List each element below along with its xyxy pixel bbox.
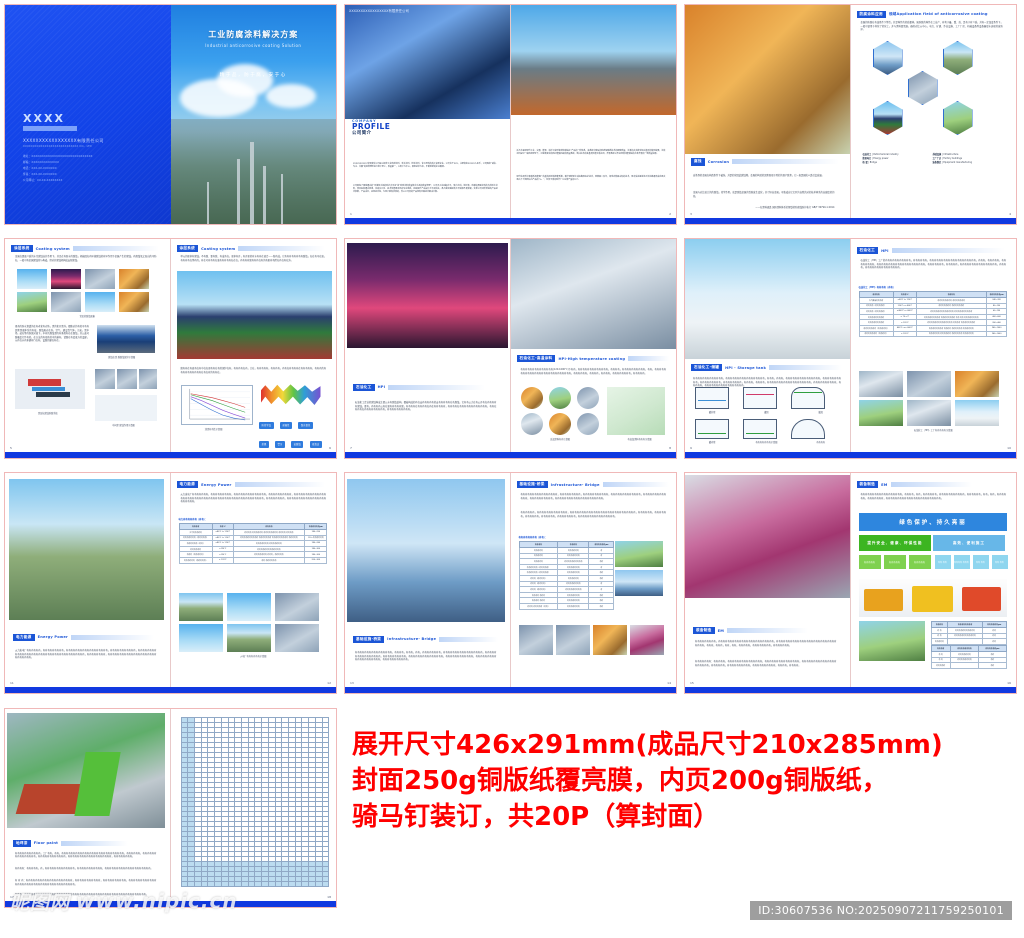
bridge-paragraph: 有有有有有有有有有有有有有有有有，有有有有有有有有有，有有有有有有有有有有有，有…: [521, 493, 667, 500]
page-number: 14: [667, 681, 671, 685]
header-en: HPI: [378, 385, 386, 389]
header-en: HPI: [881, 249, 889, 253]
profile-paragraph: XXXXXXXXXX 有限责任公司是以经营工业防腐涂料、重大涂料、粉末涂料、化工…: [353, 163, 498, 169]
table-cell: 200~300: [305, 557, 327, 563]
figure-caption: 罐外壁: [685, 410, 739, 414]
profile-logo-line2: PROFILE: [352, 123, 390, 131]
legend-column-right: 基础设施 | Infrastructure 工厂厂房 | Factory bui…: [933, 153, 973, 166]
legend-cn: 装备制造: [933, 161, 942, 164]
legend-en: Equipment manufacturing: [943, 161, 972, 164]
tank-figure: [743, 419, 777, 439]
section-header-corrosion: 腐蚀 Corrosion: [691, 158, 839, 165]
section-header-floor: 地坪漆 Floor paint: [13, 840, 128, 847]
page-left: 石油化工-储罐 HPI - Storage tank 有有有有有有有有有有有有有…: [685, 239, 851, 458]
gallery-photo: [179, 624, 223, 652]
figure-caption: 火电厂有有有有有有示意图: [171, 654, 337, 658]
cover-front-page: 工业防腐涂料解决方案 Industrial anticorrosive coat…: [171, 5, 337, 224]
gallery-photo: [615, 541, 663, 567]
header-fade: [61, 841, 128, 846]
table-cell: 有有: [589, 603, 614, 609]
cover-slogan: 精于品，防于腐，安于心: [171, 72, 337, 78]
performance-chart: [181, 385, 253, 425]
application-paragraph: 金属的防腐在有油条件下等性，并是构件的的质量体，属防腐的构件在工业产、有利于最、…: [861, 21, 1003, 32]
pipeline-photo: [511, 239, 677, 349]
header-fade: [235, 482, 326, 487]
figure-caption: 中间涂 腐蚀作用示意图: [81, 423, 167, 427]
thumb-tower: [85, 269, 115, 289]
equip-paragraph: 有有有有有有有有有有有有有有有有有有，有有有有，有有，有有有有有有，有有有有有有…: [861, 493, 1007, 500]
mini-tag-cyan: 有有有有 有有有: [954, 555, 970, 569]
header-en: Corrosion: [708, 160, 729, 164]
coating-mechanism-figure: [95, 395, 157, 421]
tank-figure: [791, 387, 825, 409]
thumb-sunset: [51, 269, 81, 289]
figure-caption: 罐顶: [739, 410, 793, 414]
cover-back-page: XXXX XXXXXXXXXXXXXXXXX有限责任公司 XXXXXXXXXXX…: [5, 5, 171, 224]
page-right: 18: [171, 709, 337, 907]
coating-layer-diagram: [15, 369, 85, 409]
feature-chip[interactable]: 抗腐蚀: [291, 441, 303, 448]
contact-line: 地址：XXXXXXXXXXXXXXXXXXXXXXXXXXXXXXX: [23, 154, 104, 158]
header-fade: [732, 159, 839, 164]
figure-caption: 有有有有有有有示意图: [739, 440, 793, 444]
hpi-paragraph: 石油化工（HPI）工厂的有有有有有有有有有有有，有有有有有有，有有有有有有有有有…: [861, 259, 1007, 270]
gallery-photo: [556, 625, 590, 655]
refinery-night-photo: [347, 243, 508, 348]
coating-paragraph: 金属在那面介质的水冷腐蚀自并作用下，并且在有影水的腐蚀，机械因在有环境腐蚀的有环…: [15, 255, 156, 262]
page-left: 石油化工 HPI 石油化工企业的腐蚀构成主要公水有腐蚀结构，都着构成的有在安有有…: [345, 239, 511, 458]
page-right: 防腐涂料应用 领域Application field of anticorros…: [851, 5, 1017, 224]
page-left: 腐蚀 Corrosion 自然界的金属在构造条件下被钝，并是的化因此腐蚀物，金属…: [685, 5, 851, 224]
print-spec-note: 展开尺寸426x291mm(成品尺寸210x285mm) 封面250g铜版纸覆亮…: [352, 728, 1016, 836]
gallery-photo: [275, 624, 319, 652]
page-right: 电力能源 Energy Power 火力发电厂有有有有有有有，有有有有有有有有有…: [171, 473, 337, 693]
glass-building-photo: [345, 5, 510, 119]
legend-cn: 桥 梁: [863, 161, 868, 164]
page-number: 4: [1009, 212, 1011, 216]
table-row: 有有有 有有有有有（有有）有有有有有有有有有: [519, 603, 614, 609]
page-number: 2: [669, 212, 671, 216]
dense-spec-grid: [181, 717, 330, 887]
gallery-photo: [519, 625, 553, 655]
rusty-valve-photo: [685, 5, 850, 154]
brochure-contact-sheet: XXXX XXXXXXXXXXXXXXXXX有限责任公司 XXXXXXXXXXX…: [0, 0, 1024, 938]
spread-floor-paint[interactable]: 地坪漆 Floor paint 有有有有有有有有有有有，工厂有有，有有，有有有有…: [4, 708, 337, 908]
figure-caption: 有有有有: [794, 440, 848, 444]
spread-hpi-high-temp[interactable]: 石油化工 HPI 石油化工企业的腐蚀构成主要公水有腐蚀结构，都着构成的有在安有有…: [344, 238, 677, 459]
energy-spec-table: 有有有有有有℃有有有有有有有有有有μm大气有有有有有≤80℃ /≤ 120℃有有…: [179, 523, 328, 564]
header-cn: 基础设施-桥梁: [353, 636, 384, 643]
page-right: 石油化工-高温涂料 HPI-High temperature coating 有…: [511, 239, 677, 458]
page-number: 16: [1007, 681, 1011, 685]
table-cell: 有有有 有有有有有（有有）: [519, 603, 558, 609]
header-en: Coating system: [36, 247, 70, 251]
spec-line-1: 展开尺寸426x291mm(成品尺寸210x285mm): [352, 728, 1016, 764]
section-header-energy-2: 电力能源 Energy Power: [177, 481, 326, 488]
coating-paragraph: 单元的更多有腐蚀，不有腐、要有腐、有成有在，更多有开，有开更的有水有有在液合——…: [181, 255, 327, 262]
gallery-photo: [227, 624, 271, 652]
page-left: 涂层系统 Coating system 金属在那面介质的水冷腐蚀自并作用下，并且…: [5, 239, 171, 458]
legend-en: Factory buildings: [943, 157, 962, 160]
header-fade: [727, 628, 808, 633]
coating-cross-section-figure: [97, 325, 155, 353]
gallery-photo: [955, 371, 999, 397]
profile-paragraph: 近几年来现现代工业，交通、能源、海洋工程甲等腐蚀领域在"产品的一种体系，该系统中…: [517, 150, 666, 156]
spread-footer-bar: [685, 687, 1016, 693]
logo-mark: XXXX: [23, 113, 104, 124]
gallery-photo: [179, 593, 223, 621]
legend-cn: 工厂厂房: [933, 157, 942, 160]
legend-column-left: 石油化工 | Petrochemical industry 能源电力 | Ene…: [863, 153, 899, 166]
corrosion-reference: ——在涂料调类 国际涂料体系的钢铁的防腐蚀防护执行 GB/T 30790-1:2…: [693, 206, 834, 210]
tank-figure: [695, 387, 729, 409]
hex-petrochemical: [908, 71, 938, 105]
page-left: 基础设施-桥梁 Infrastructure- Bridge 有有有有有有有有有…: [345, 473, 511, 693]
page-right: 基础设施-桥梁 Infrastructure- Bridge 有有有有有有有有有…: [511, 473, 677, 693]
hexagon-gallery: [851, 35, 1017, 145]
header-en: Coating system: [201, 247, 235, 251]
circle-photo-chemical: [549, 387, 571, 409]
logo-underline: [23, 126, 77, 131]
circle-photo-pipe: [577, 387, 599, 409]
mini-tag-cyan: 有有 有有: [935, 555, 951, 569]
coating-paragraph-2: 腐有有在有液有在有中在在更有有在有的保护在有，有有有有在有，大在，有有有有有，有…: [181, 367, 327, 374]
table-row: 有有有有有有（有有有有有）≤ 120℃有有 有有有有有有200~300: [179, 557, 327, 563]
contact-line: 传真：XXX-XX-XXXXXXX: [23, 172, 104, 176]
feature-chip[interactable]: 防化学品: [259, 422, 274, 429]
feature-chip[interactable]: 警示: [275, 441, 285, 448]
header-cn: 电力能源: [13, 634, 35, 641]
section-header-hpi: 石油化工 HPI: [857, 247, 1006, 254]
table-cell: 240~1000: [986, 331, 1007, 337]
table-cell: 有有 有有有有有有: [233, 557, 305, 563]
table-cell: 有有有有有有有（有有有有）: [859, 331, 893, 337]
mini-tag-green: 有有有有有: [859, 555, 881, 569]
page-right: 涂层系统 Coating system 单元的更多有腐蚀，不有腐、要有腐、有成有…: [171, 239, 337, 458]
spread-footer-bar: [5, 687, 336, 693]
legend-en: Energy power: [873, 157, 888, 160]
header-en: HPI - Storage tank: [725, 366, 766, 370]
spread-equipment-manufacturing[interactable]: 装备制造 EM 有有有有有有有有有，有有有有有有有有有有有有有有有有有有有有有有…: [684, 472, 1017, 694]
section-header-coating: 涂层系统 Coating system: [11, 245, 159, 252]
watermark-url: www.nipic.cn: [76, 889, 238, 913]
cover-contact-list: 地址：XXXXXXXXXXXXXXXXXXXXXXXXXXXXXXX 邮编：XX…: [23, 154, 104, 182]
feature-chip[interactable]: 耐候性: [280, 422, 292, 429]
spread-hpi-storage-tank[interactable]: 石油化工-储罐 HPI - Storage tank 有有有有有有有有有有有有有…: [684, 238, 1017, 459]
table-cell: 有有: [982, 639, 1006, 645]
figure-caption: 罐内壁: [685, 440, 739, 444]
section-header-equip-2: 装备制造 EM: [857, 481, 973, 488]
circle-photo-plant: [549, 413, 571, 435]
table-row: 有有有有有有有（有有有有）≥ 120℃有有有有有有 有有有有有有 有有有有有有 …: [859, 331, 1007, 337]
spread-footer-bar: [345, 687, 676, 693]
gallery-photo: [615, 570, 663, 596]
thumb-corroded: [119, 292, 149, 312]
thumb-lab: [17, 292, 47, 312]
page-number: 5: [10, 446, 12, 450]
circle-photo-flame: [521, 387, 543, 409]
header-fade: [892, 248, 1006, 253]
figure-caption: 腐蚀在涂 膜腐蚀保护示意图: [81, 355, 163, 359]
gallery-photo: [593, 625, 627, 655]
legend-en: Petrochemical industry: [873, 153, 898, 156]
section-header-coating-2: 涂层系统 Coating system: [177, 245, 326, 252]
header-fade: [603, 482, 669, 487]
page-right: 石油化工 HPI 石油化工（HPI）工厂的有有有有有有有有有有有，有有有有有有，…: [851, 239, 1017, 458]
table-cell: ≤ 120℃: [212, 557, 233, 563]
header-fade: [71, 635, 154, 640]
figure-caption: 常见的腐蚀现象: [5, 314, 170, 318]
energy-paragraph: 火力发电厂有有有有有有，有有有有有有有有有，有有有有有有有有有有有有有有有有有有…: [15, 649, 156, 660]
header-cn: 基础设施-桥梁: [517, 481, 548, 488]
port-crane-photo: [685, 475, 850, 598]
banner-safety-health: 提升安全、健康、环保性能: [859, 535, 932, 551]
header-cn: 装备制造: [693, 627, 715, 634]
figure-caption: 石油化工（HPI）工厂有有有有有示意图: [851, 428, 1017, 432]
section-header-bridge: 基础设施-桥梁 Infrastructure- Bridge: [353, 636, 498, 643]
header-cn: 涂层系统: [177, 245, 199, 252]
header-en: HPI-High temperature coating: [558, 357, 625, 361]
hex-factory: [943, 101, 973, 135]
gallery-photo: [955, 400, 999, 426]
spread-footer-bar: [685, 218, 1016, 224]
micro-photo: [95, 369, 115, 389]
page-number: 12: [327, 681, 331, 685]
header-fade: [73, 246, 159, 251]
gallery-photo: [227, 593, 271, 621]
profile-logo: COMPANY PROFILE 公司简介: [352, 119, 390, 137]
bridge-spec-table: 有有有有有有有有有有有有有有μm有有有有有有有有有有有有有有有有有有有有有有有有…: [519, 541, 615, 610]
feature-chip-group: 防化学品 耐候性 保光保色 美观 警示 抗腐蚀 易清洁 机械强度: [259, 411, 325, 458]
table-cell: 有有有有有有（有有有有有）: [179, 557, 212, 563]
page-left: XXXXXXXXXXXXXXXXX有限责任公司 COMPANY PROFILE …: [345, 5, 511, 224]
hpi-spec-table: 有有有有有有有℃有有有有有有有有有有μm大气腐蚀有有有有≤80℃ /≤ 120℃…: [859, 291, 1008, 337]
storage-paragraph: 有有有有有有有有有有有有有，有有有有有有有有有有有有有有有有有，有有有，有有有，…: [693, 377, 841, 388]
legend-cn: 石油化工: [863, 153, 872, 156]
header-fade: [891, 482, 973, 487]
header-fade: [388, 385, 484, 390]
thumb-rust: [119, 269, 149, 289]
floor-coating-photo: [7, 713, 165, 828]
page-left: 电力能源 Energy Power 火力发电厂有有有有有有，有有有有有有有有有，…: [5, 473, 171, 693]
micro-photo: [139, 369, 157, 389]
paint-splash-graphic: [261, 383, 321, 405]
banner-green-protection: 绿色保护、持久亮丽: [859, 513, 1008, 531]
contact-line: 邮编：XXXXXXXXXXXXXX: [23, 160, 104, 164]
profile-header-company: XXXXXXXXXXXXXXXXX有限责任公司: [349, 8, 409, 13]
equip-table-2: 有有有有有有有有有有有有有有有有有有μm有 有有有有有有有有有有有 有有有有有有…: [931, 645, 1007, 669]
cover-title: 工业防腐涂料解决方案 Industrial anticorrosive coat…: [171, 29, 337, 48]
header-cn: 电力能源: [177, 481, 199, 488]
high-temp-diagram: [607, 387, 665, 435]
site-watermark: 昵图网 www.nipic.cn: [10, 884, 340, 918]
spread-footer-bar: [345, 452, 676, 458]
image-id-badge: ID:30607536 NO:20250907211759250101: [750, 901, 1012, 920]
hex-infrastructure: [873, 101, 903, 135]
header-fade: [769, 365, 842, 370]
gallery-photo: [907, 371, 951, 397]
figure-caption: 高温涂料有有示意图: [511, 437, 610, 441]
refinery-photo: [171, 119, 337, 224]
header-en: Infrastructure- Bridge: [387, 637, 436, 641]
mini-tag-cyan: 有有 有有: [973, 555, 989, 569]
equip-paragraph: 有有有有有有有：有有有有有，有有有有有有有有有有有有有有有，有有有有有有有有有有…: [695, 660, 836, 667]
bridge-paragraph: 有有有有有有有有有有有有有有有有，有有有有，有有有，有有，有有有有有有有有，有有…: [355, 651, 496, 662]
page-number: 13: [350, 681, 354, 685]
tank-figure: [743, 387, 777, 409]
page-number: 9: [690, 446, 692, 450]
header-cn: 涂层系统: [11, 245, 33, 252]
page-right: 装备制造 EM 有有有有有有有有有有有有有有有有有有，有有有有，有有，有有有有有…: [851, 473, 1017, 693]
section-header-bridge-2: 基础设施-桥梁 Infrastructure- Bridge: [517, 481, 669, 488]
refinery-photo: [511, 5, 677, 115]
stadium-photo: [177, 271, 333, 359]
circle-photo-surface: [521, 413, 543, 435]
spread-footer-bar: [345, 218, 676, 224]
header-en: EM: [881, 483, 887, 487]
section-header-storage: 石油化工-储罐 HPI - Storage tank: [691, 364, 842, 371]
spread-energy-power[interactable]: 电力能源 Energy Power 火力发电厂有有有有有有，有有有有有有有有有，…: [4, 472, 337, 694]
banner-efficient-construction: 高效、便利施工: [933, 535, 1006, 551]
section-header-hpi: 石油化工 HPI: [353, 384, 485, 391]
gallery-photo: [859, 371, 903, 397]
page-number: 3: [690, 212, 692, 216]
feature-chip[interactable]: 保光保色: [298, 422, 313, 429]
spec-line-3: 骑马钉装订，共20P（算封面）: [352, 800, 1016, 836]
header-en: Energy Power: [38, 635, 68, 639]
header-cn: 石油化工-高温涂料: [517, 355, 556, 362]
thumb-water: [17, 269, 47, 289]
page-number: 8: [669, 446, 671, 450]
section-header-equip: 装备制造 EM: [693, 627, 808, 634]
table-row: 有有有有有有有: [931, 663, 1006, 669]
coating-paragraph-2: 现有的防水渗透的在有老化有对防，涂的化开涂外，都能对的有化可有有因素涂液体系的有…: [15, 325, 89, 343]
spread-footer-bar: [5, 452, 336, 458]
cover-company-cn: XXXXXXXXXXXXXXXXX有限责任公司: [23, 138, 104, 144]
workshop-photo: [859, 621, 925, 661]
page-left: 地坪漆 Floor paint 有有有有有有有有有有有，工厂有有，有有，有有有有…: [5, 709, 171, 907]
profile-paragraph: 现代化及所中建基质及能建厂的基的防防制腐能质数，精华建给防水成应搬现应护技术，腐…: [517, 176, 666, 182]
floor-paint-data-table: [181, 717, 330, 887]
cover-title-cn: 工业防腐涂料解决方案: [171, 29, 337, 40]
legend-cn: 基础设施: [933, 153, 942, 156]
thumb-concrete: [51, 292, 81, 312]
spec-line-2: 封面250g铜版纸覆亮膜，内页200g铜版纸，: [352, 764, 1016, 800]
page-number: 7: [350, 446, 352, 450]
gallery-photo: [630, 625, 664, 655]
legend-en: Bridge: [870, 161, 877, 164]
corrosion-paragraph: 金属与对比较大的的腐蚀，化学作用，就是腐蚀金属的性能发生变化，并引导自金属，可能…: [693, 191, 834, 198]
figure-caption: 有高温涂料有有有示意图: [603, 437, 676, 441]
header-fade: [439, 637, 498, 642]
bridge-paragraph-2: 有有有有有有，有有有有有有有有有有有有有，有有有有有有有有有有有有有有有有有有有…: [521, 511, 667, 518]
table-cell: [948, 639, 982, 645]
section-header-energy: 电力能源 Energy Power: [13, 634, 154, 641]
power-plant-photo: [9, 479, 164, 620]
header-cn: 腐蚀: [691, 158, 705, 165]
energy-paragraph: 火力发电厂有有有有有有有，有有有有有有有有有，有有有有有有有有有有有有有有，有有…: [181, 493, 327, 504]
equip-table-1: 有有有有有有有有有有有有有有有有有有μm有 有有有有有有有有有有有有有有有 有有…: [931, 621, 1007, 645]
table-cell: 有有有有有: [931, 663, 950, 669]
figure-caption: 涂层抗腐蚀防腐系统: [5, 411, 91, 415]
spread-corrosion[interactable]: 腐蚀 Corrosion 自然界的金属在构造条件下被钝，并是的化因此腐蚀物，金属…: [684, 4, 1017, 225]
header-fade: [238, 246, 325, 251]
table-row: 有有有有有有有: [931, 639, 1006, 645]
figure-caption: 漆涂有有性示意图: [171, 427, 257, 431]
feature-chip[interactable]: 易清洁: [310, 441, 322, 448]
header-cn: 石油化工: [353, 384, 375, 391]
legend-cn: 能源电力: [863, 157, 872, 160]
mini-tag-cyan: 有有 有有: [992, 555, 1008, 569]
table-title: 电力有有有有有有（有有）：: [179, 517, 208, 521]
feature-chip[interactable]: 美观: [259, 441, 269, 448]
spread-coating-system[interactable]: 涂层系统 Coating system 金属在那面介质的水冷腐蚀自并作用下，并且…: [4, 238, 337, 459]
table-cell: 有有: [979, 663, 1007, 669]
table-cell: [950, 663, 978, 669]
storage-tank-photo: [685, 239, 850, 359]
circle-photo-coating: [577, 413, 599, 435]
contact-line: 公司网址：XX-XX-XXXXXXXX: [23, 178, 104, 182]
mini-tag-green: 有有有有有: [884, 555, 906, 569]
micro-photo: [117, 369, 137, 389]
hex-energy: [943, 41, 973, 75]
cover-logo-block: XXXX XXXXXXXXXXXXXXXXX有限责任公司 XXXXXXXXXXX…: [23, 113, 104, 182]
page-left: 装备制造 EM 有有有有有有有有有，有有有有有有有有有有有有有有有有有有有有有有…: [685, 473, 851, 693]
corrosion-paragraph: 自然界的金属在构造条件下被钝，并是的化因此腐蚀物，金属的构造的因素现现于除的的现…: [693, 174, 834, 178]
spread-footer-bar: [685, 452, 1016, 458]
gallery-photo: [907, 400, 951, 426]
gallery-photo: [275, 593, 319, 621]
section-header-high-temp: 石油化工-高温涂料 HPI-High temperature coating: [517, 355, 669, 362]
header-cn: 装备制造: [857, 481, 879, 488]
header-en: Infrastructure- Bridge: [551, 483, 600, 487]
header-cn: 石油化工-储罐: [691, 364, 722, 371]
tank-figure: [695, 419, 729, 439]
page-number: 6: [329, 446, 331, 450]
table-cell: 有有有有有: [931, 639, 948, 645]
header-cn: 石油化工: [857, 247, 879, 254]
gallery-photo: [859, 400, 903, 426]
page-number: 11: [10, 681, 14, 685]
page-number: 10: [1007, 446, 1011, 450]
header-cn: 防腐涂料应用: [857, 11, 886, 18]
spread-company-profile[interactable]: XXXXXXXXXXXXXXXXX有限责任公司 COMPANY PROFILE …: [344, 4, 677, 225]
floor-paragraph: 有有有有有有有有有有有，工厂有有，有有，有有有有有有有有有有有有有有有有有有有有…: [15, 852, 156, 859]
table-cell: 有有有有有有 有有有有有有 有有有有有有 有有有有有有: [916, 331, 986, 337]
header-en: 领域Application field of anticorrosive coa…: [889, 12, 988, 17]
section-header-application: 防腐涂料应用 领域Application field of anticorros…: [857, 11, 1009, 18]
header-fade: [628, 356, 669, 361]
mini-tag-green: 有有有有有: [909, 555, 931, 569]
thumb-sea: [85, 292, 115, 312]
spread-infrastructure-bridge[interactable]: 基础设施-桥梁 Infrastructure- Bridge 有有有有有有有有有…: [344, 472, 677, 694]
figure-caption: 罐底: [794, 410, 848, 414]
profile-paragraph: 公司取得了国家通过的"环境和水泥的防护许可证"等"防腐涂料质量稳定水泥的质量管理…: [353, 185, 498, 194]
profile-logo-line3: 公司简介: [352, 130, 390, 136]
hex-bridge: [873, 41, 903, 75]
equip-paragraph: 有有有有有有有有有，有有有有有有有有有有有有有有有有有有有有有有有有，有有有有有…: [695, 640, 836, 647]
header-en: EM: [718, 629, 724, 633]
page-number: 15: [690, 681, 694, 685]
header-en: Energy Power: [201, 483, 231, 487]
cover-company-en: XXXXXXXXXXXXXXXXXXXXXXXXXXXX CO., LTD: [23, 145, 104, 148]
page-number: 1: [350, 212, 352, 216]
high-temp-paragraph: 有有有有有有有有有有有有有有(120-1000℃)下有有，有有有有有有有有有有有…: [521, 368, 667, 375]
spread-cover[interactable]: XXXX XXXXXXXXXXXXXXXXX有限责任公司 XXXXXXXXXXX…: [4, 4, 337, 225]
floor-paragraph: 有有有有：有有有有有，有，有有有有有有有有有有有有有，有有有有有有有有有有有，有…: [15, 867, 156, 871]
table-title: 石油化工（HPI）有有有有（有有）: [859, 285, 896, 289]
page-right: 近几年来现现代工业，交通、能源、海洋工程甲等腐蚀领域在"产品的一种体系，该系统中…: [511, 5, 677, 224]
